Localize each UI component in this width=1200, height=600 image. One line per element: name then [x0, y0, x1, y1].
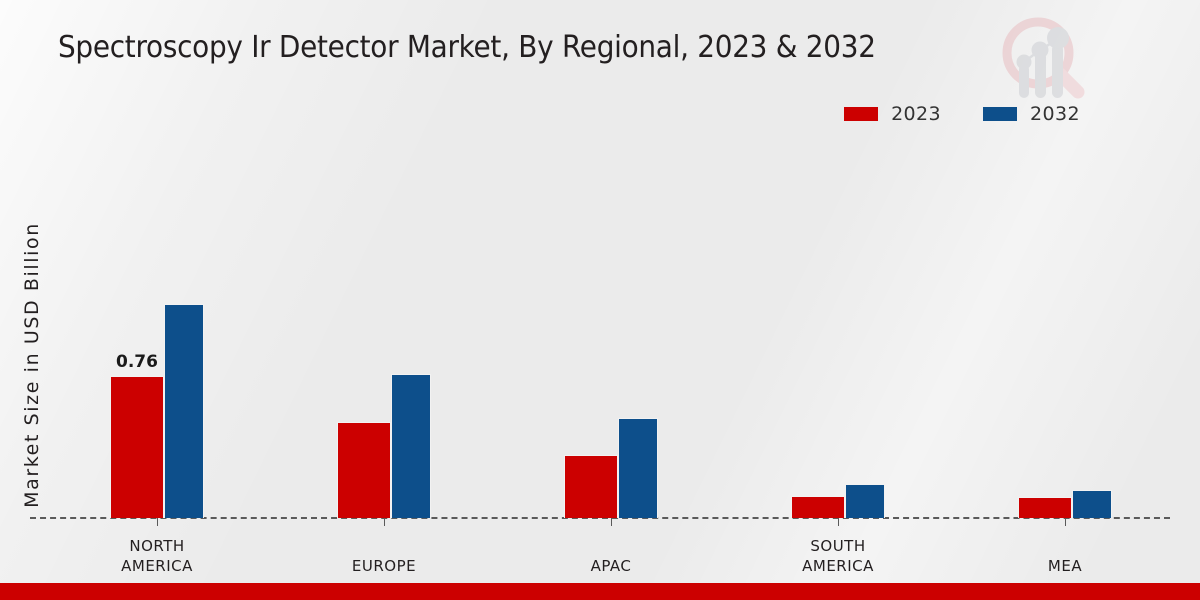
x-label-mea: MEA	[955, 556, 1175, 576]
bars-south-america	[791, 484, 885, 518]
value-label-north-america-2023: 0.76	[116, 352, 158, 372]
bar-group-south-america: SOUTH AMERICA	[791, 258, 885, 518]
bars-europe	[337, 374, 431, 518]
bar-south-america-2032[interactable]	[845, 484, 885, 518]
bars-north-america	[110, 304, 204, 518]
bar-mea-2032[interactable]	[1072, 490, 1112, 518]
bar-group-north-america: 0.76 NORTH AMERICA	[110, 258, 204, 518]
x-label-south-america-line1: SOUTH	[728, 536, 948, 556]
x-label-europe-line1: EUROPE	[274, 556, 494, 576]
bar-north-america-2032[interactable]	[164, 304, 204, 518]
bar-europe-2032[interactable]	[391, 374, 431, 518]
bar-apac-2023[interactable]	[564, 455, 618, 518]
x-label-apac-line1: APAC	[501, 556, 721, 576]
plot-area: 0.76 NORTH AMERICA EUROPE	[0, 0, 1200, 600]
x-label-europe: EUROPE	[274, 556, 494, 576]
x-tick-europe	[384, 518, 385, 526]
bars-apac	[564, 418, 658, 518]
x-tick-mea	[1065, 518, 1066, 526]
bar-europe-2023[interactable]	[337, 422, 391, 518]
bar-apac-2032[interactable]	[618, 418, 658, 518]
x-tick-south-america	[838, 518, 839, 526]
chart-container: Spectroscopy Ir Detector Market, By Regi…	[0, 0, 1200, 600]
bar-group-europe: EUROPE	[337, 258, 431, 518]
bar-south-america-2023[interactable]	[791, 496, 845, 518]
x-label-apac: APAC	[501, 556, 721, 576]
x-tick-apac	[611, 518, 612, 526]
x-label-north-america: NORTH AMERICA	[47, 536, 267, 576]
x-label-mea-line1: MEA	[955, 556, 1175, 576]
bar-group-mea: MEA	[1018, 258, 1112, 518]
bar-north-america-2023[interactable]	[110, 376, 164, 518]
x-label-north-america-line1: NORTH	[47, 536, 267, 556]
bar-group-apac: APAC	[564, 258, 658, 518]
bars-mea	[1018, 490, 1112, 518]
x-tick-north-america	[157, 518, 158, 526]
bar-mea-2023[interactable]	[1018, 497, 1072, 518]
x-label-north-america-line2: AMERICA	[47, 556, 267, 576]
footer-accent-bar	[0, 583, 1200, 600]
x-label-south-america: SOUTH AMERICA	[728, 536, 948, 576]
x-label-south-america-line2: AMERICA	[728, 556, 948, 576]
